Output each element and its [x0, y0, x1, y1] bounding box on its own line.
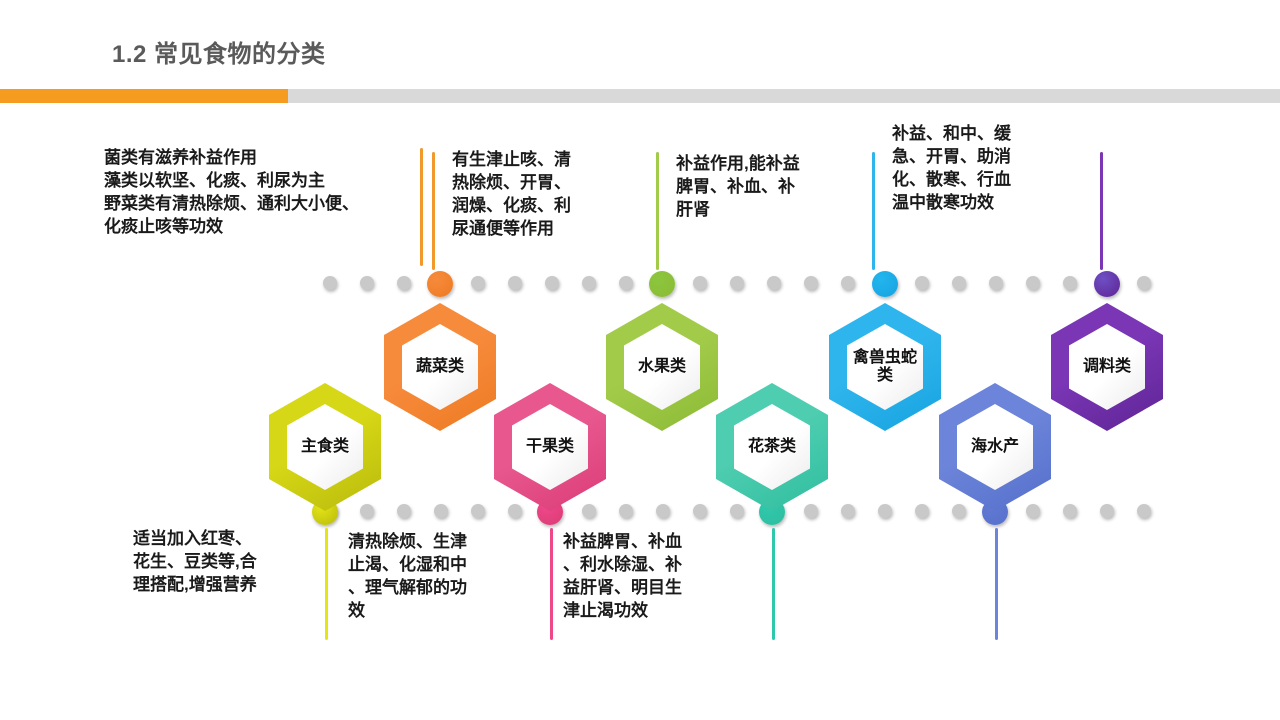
hexagon-staple[interactable]: 主食类 [269, 383, 381, 511]
timeline-dots-bottom [0, 498, 1280, 528]
timeline-dot-small [360, 276, 374, 290]
description-drynuts: 清热除烦、生津 止渴、化湿和中 、理气解郁的功 效 [348, 530, 523, 622]
timeline-dot-small [915, 504, 929, 518]
timeline-dot-small [952, 504, 966, 518]
hexagon-seafood[interactable]: 海水产 [939, 383, 1051, 511]
page-title: 1.2 常见食物的分类 [112, 34, 326, 69]
connector-seafood [995, 528, 998, 640]
timeline-dot-small [1137, 504, 1151, 518]
timeline-dot-small [323, 276, 337, 290]
hexagon-fruit[interactable]: 水果类 [606, 303, 718, 431]
timeline-dot-small [730, 504, 744, 518]
hexagon-inner-vegetable: 蔬菜类 [402, 324, 478, 410]
timeline-dot-small [1026, 276, 1040, 290]
timeline-dot-small [1100, 504, 1114, 518]
hexagon-label-livestock: 禽兽虫蛇 类 [853, 349, 917, 385]
description-livestock: 补益、和中、缓 急、开胃、助消 化、散寒、行血 温中散寒功效 [892, 122, 1078, 214]
connector-flowertea [772, 528, 775, 640]
timeline-dot-small [804, 504, 818, 518]
timeline-dot-small [582, 276, 596, 290]
timeline-dot-livestock[interactable] [872, 271, 898, 297]
connector-livestock [872, 152, 875, 270]
timeline-dot-vegetable[interactable] [427, 271, 453, 297]
timeline-dot-small [508, 504, 522, 518]
description-fruit: 补益作用,能补益 脾胃、补血、补 肝肾 [676, 152, 851, 221]
connector-vegetable [432, 152, 435, 270]
timeline-dot-small [767, 276, 781, 290]
header-grey-rule [288, 89, 1280, 103]
description-staple: 适当加入红枣、 花生、豆类等,合 理搭配,增强营养 [133, 527, 328, 596]
connector-drynuts [550, 528, 553, 640]
timeline-dot-small [1026, 504, 1040, 518]
timeline-dot-small [434, 504, 448, 518]
hexagon-inner-drynuts: 干果类 [512, 404, 588, 490]
timeline-dot-small [915, 276, 929, 290]
hexagon-vegetable[interactable]: 蔬菜类 [384, 303, 496, 431]
timeline-dot-small [878, 504, 892, 518]
timeline-dot-small [693, 504, 707, 518]
connector-seasoning [1100, 152, 1103, 270]
hexagon-livestock[interactable]: 禽兽虫蛇 类 [829, 303, 941, 431]
timeline-dot-small [508, 276, 522, 290]
hexagon-label-drynuts: 干果类 [526, 438, 574, 456]
header-accent-rule [0, 89, 288, 103]
hexagon-inner-fruit: 水果类 [624, 324, 700, 410]
hexagon-label-flowertea: 花茶类 [748, 438, 796, 456]
timeline-dot-small [360, 504, 374, 518]
timeline-dot-seasoning[interactable] [1094, 271, 1120, 297]
hexagon-label-vegetable: 蔬菜类 [416, 358, 464, 376]
timeline-dot-small [730, 276, 744, 290]
description-vegetable: 有生津止咳、清 热除烦、开胃、 润燥、化痰、利 尿通便等作用 [452, 148, 620, 240]
timeline-dot-small [397, 504, 411, 518]
hexagon-label-staple: 主食类 [301, 438, 349, 456]
timeline-dot-small [545, 276, 559, 290]
timeline-dot-small [471, 276, 485, 290]
connector-fruit [656, 152, 659, 270]
timeline-dot-small [693, 276, 707, 290]
timeline-dot-small [804, 276, 818, 290]
hexagon-drynuts[interactable]: 干果类 [494, 383, 606, 511]
timeline-dot-small [471, 504, 485, 518]
description-flowertea: 补益脾胃、补血 、利水除湿、补 益肝肾、明目生 津止渴功效 [563, 530, 743, 622]
timeline-dot-small [952, 276, 966, 290]
timeline-dot-small [1063, 504, 1077, 518]
hexagon-inner-staple: 主食类 [287, 404, 363, 490]
hexagon-label-seasoning: 调料类 [1083, 358, 1131, 376]
timeline-dot-small [989, 276, 1003, 290]
intro-description: 菌类有滋养补益作用 藻类以软坚、化痰、利尿为主 野菜类有清热除烦、通利大小便、 … [104, 146, 424, 238]
timeline-dot-small [1137, 276, 1151, 290]
hexagon-label-fruit: 水果类 [638, 358, 686, 376]
slide-canvas: 1.2 常见食物的分类 主食类蔬菜类干果类水果类花茶类禽兽虫蛇 类海水产调料类 … [0, 0, 1280, 720]
timeline-dot-small [841, 504, 855, 518]
timeline-dot-small [582, 504, 596, 518]
timeline-dot-small [841, 276, 855, 290]
timeline-dot-small [656, 504, 670, 518]
hexagon-inner-seasoning: 调料类 [1069, 324, 1145, 410]
timeline-dot-fruit[interactable] [649, 271, 675, 297]
hexagon-flowertea[interactable]: 花茶类 [716, 383, 828, 511]
hexagon-inner-seafood: 海水产 [957, 404, 1033, 490]
hexagon-inner-flowertea: 花茶类 [734, 404, 810, 490]
timeline-dot-small [397, 276, 411, 290]
timeline-dots-top [0, 270, 1280, 300]
timeline-dot-small [1063, 276, 1077, 290]
timeline-dot-small [619, 504, 633, 518]
hexagon-label-seafood: 海水产 [971, 438, 1019, 456]
timeline-dot-small [619, 276, 633, 290]
hexagon-inner-livestock: 禽兽虫蛇 类 [847, 324, 923, 410]
hexagon-seasoning[interactable]: 调料类 [1051, 303, 1163, 431]
